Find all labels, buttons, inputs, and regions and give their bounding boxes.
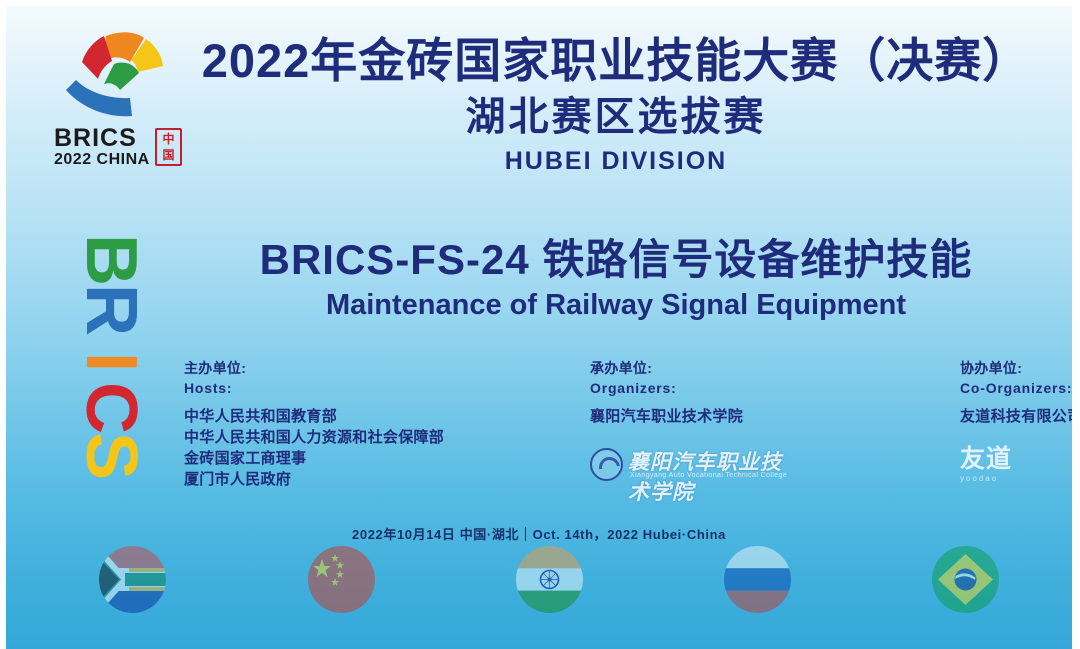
title-line-division-cn: 湖北赛区选拔赛: [176, 90, 1056, 144]
event-name-cn: BRICS-FS-24 铁路信号设备维护技能: [176, 234, 1056, 286]
co-organizers-label-cn: 协办单位:: [960, 358, 1072, 378]
college-emblem-icon: [590, 448, 623, 481]
flag-south-africa: [99, 546, 166, 613]
yoodao-logo-en: yoodao: [960, 474, 1070, 483]
flag-china: [308, 546, 375, 613]
title-line-division-en: HUBEI DIVISION: [176, 145, 1056, 177]
brics-letter-c: C: [75, 382, 147, 434]
flag-india: [516, 546, 583, 613]
hosts-label-en: Hosts:: [184, 378, 524, 398]
list-item: 中华人民共和国人力资源和社会保障部: [184, 427, 524, 448]
list-item: 中华人民共和国教育部: [184, 406, 524, 427]
organizers-label-cn: 承办单位:: [590, 358, 840, 378]
brics-wordmark: BRICS 2022 CHINA 中国: [54, 126, 186, 178]
organizations-section: 主办单位: Hosts: 中华人民共和国教育部 中华人民共和国人力资源和社会保障…: [184, 358, 1044, 498]
brics-flags-row: [6, 546, 1072, 626]
flag-russia: [724, 546, 791, 613]
list-item: 襄阳汽车职业技术学院: [590, 406, 840, 427]
poster-canvas: BRICS 2022 CHINA 中国 2022年金砖国家职业技能大赛（决赛） …: [6, 6, 1072, 649]
brics-letter-b: B: [75, 234, 147, 286]
flag-brazil: [932, 546, 999, 613]
page-title: 2022年金砖国家职业技能大赛（决赛） 湖北赛区选拔赛 HUBEI DIVISI…: [176, 32, 1056, 177]
co-organizers-label-en: Co-Organizers:: [960, 378, 1072, 398]
hosts-list: 中华人民共和国教育部 中华人民共和国人力资源和社会保障部 金砖国家工商理事 厦门…: [184, 406, 524, 490]
brics-letter-r: R: [75, 284, 147, 336]
event-name-en: Maintenance of Railway Signal Equipment: [176, 286, 1056, 324]
organizers-label-en: Organizers:: [590, 378, 840, 398]
hosts-column: 主办单位: Hosts: 中华人民共和国教育部 中华人民共和国人力资源和社会保障…: [184, 358, 524, 490]
xiangyang-college-logo: 襄阳汽车职业技术学院 Xiangyang Auto Vocational Tec…: [590, 446, 795, 486]
co-organizers-column: 协办单位: Co-Organizers: 友道科技有限公司: [960, 358, 1072, 427]
co-organizers-list: 友道科技有限公司: [960, 406, 1072, 427]
title-line-primary: 2022年金砖国家职业技能大赛（决赛）: [176, 32, 1056, 90]
list-item: 金砖国家工商理事: [184, 448, 524, 469]
list-item: 友道科技有限公司: [960, 406, 1072, 427]
brics-letter-i: I: [75, 352, 147, 372]
dateline: 2022年10月14日 中国·湖北｜Oct. 14th，2022 Hubei·C…: [6, 524, 1072, 543]
hosts-label-cn: 主办单位:: [184, 358, 524, 378]
poster-root: BRICS 2022 CHINA 中国 2022年金砖国家职业技能大赛（决赛） …: [0, 0, 1080, 649]
brics-letter-s: S: [75, 432, 147, 480]
organizers-column: 承办单位: Organizers: 襄阳汽车职业技术学院: [590, 358, 840, 427]
brics-swoosh-icon: [60, 28, 178, 126]
yoodao-logo: 友道 yoodao: [960, 446, 1070, 488]
college-logo-en: Xiangyang Auto Vocational Technical Coll…: [630, 472, 787, 479]
brics-china-logo: BRICS 2022 CHINA 中国: [54, 28, 186, 178]
list-item: 厦门市人民政府: [184, 469, 524, 490]
yoodao-logo-cn: 友道: [960, 446, 1070, 473]
organizers-list: 襄阳汽车职业技术学院: [590, 406, 840, 427]
brics-vertical-logo: B R I C S: [52, 222, 170, 494]
event-name: BRICS-FS-24 铁路信号设备维护技能 Maintenance of Ra…: [176, 234, 1056, 324]
